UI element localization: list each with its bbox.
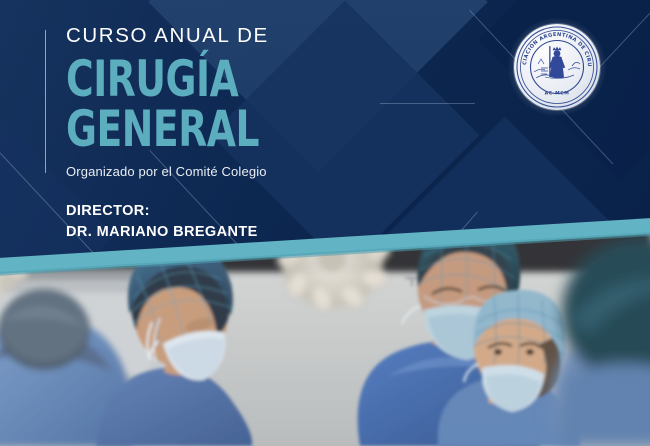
title-line-2: GENERAL bbox=[66, 107, 462, 153]
title-line-1: CIRUGÍA bbox=[66, 56, 462, 102]
course-promo-poster: CURSO ANUAL DE CIRUGÍA GENERAL Organizad… bbox=[0, 0, 650, 446]
vertical-rule bbox=[45, 30, 46, 173]
seal-bottom-text: AC·MCM bbox=[545, 91, 570, 97]
headline-block: CURSO ANUAL DE CIRUGÍA GENERAL Organizad… bbox=[66, 26, 496, 243]
kicker-text: CURSO ANUAL DE bbox=[66, 26, 496, 47]
director-label: DIRECTOR: bbox=[66, 201, 496, 222]
subtitle-text: Organizado por el Comité Colegio bbox=[66, 164, 496, 179]
director-block: DIRECTOR: DR. MARIANO BREGANTE bbox=[66, 201, 496, 243]
seal-disc: ASOCIACIÓN ARGENTINA DE CIRUGÍA bbox=[514, 24, 600, 110]
seal-artwork-icon: ASOCIACIÓN ARGENTINA DE CIRUGÍA bbox=[514, 24, 600, 110]
organization-seal: ASOCIACIÓN ARGENTINA DE CIRUGÍA bbox=[514, 24, 600, 110]
director-name: DR. MARIANO BREGANTE bbox=[66, 222, 496, 243]
